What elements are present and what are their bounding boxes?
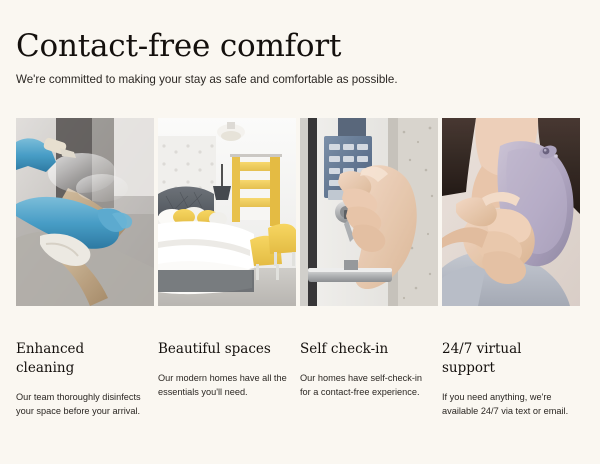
feature-card-heading: Self check-in — [300, 340, 424, 359]
feature-card-body: Our team thoroughly disinfects your spac… — [16, 391, 147, 418]
page-subtitle: We're committed to making your stay as s… — [16, 72, 582, 88]
feature-card: Beautiful spaces Our modern homes have a… — [158, 118, 296, 418]
photo-hand-using-keypad-door-lock — [300, 118, 438, 306]
feature-card: 24/7 virtual support If you need anythin… — [442, 118, 580, 418]
feature-card-heading: 24/7 virtual support — [442, 340, 566, 378]
photo-bedroom-with-yellow-accents — [158, 118, 296, 306]
feature-card-body: If you need anything, we're available 24… — [442, 391, 573, 418]
feature-card: Enhanced cleaning Our team thoroughly di… — [16, 118, 154, 418]
photo-gloved-hands-spraying-disinfectant-on-chair — [16, 118, 154, 306]
feature-card-heading: Enhanced cleaning — [16, 340, 140, 378]
feature-card-body: Our modern homes have all the essentials… — [158, 372, 289, 399]
feature-card-heading: Beautiful spaces — [158, 340, 282, 359]
feature-card: Self check-in Our homes have self-check-… — [300, 118, 438, 418]
feature-card-body: Our homes have self-check-in for a conta… — [300, 372, 431, 399]
page-title: Contact-free comfort — [16, 28, 582, 64]
photo-woman-using-smartphone — [442, 118, 580, 306]
page-header: Contact-free comfort We're committed to … — [16, 28, 582, 88]
feature-card-list: Enhanced cleaning Our team thoroughly di… — [16, 118, 585, 418]
page-root: Contact-free comfort We're committed to … — [0, 0, 600, 464]
